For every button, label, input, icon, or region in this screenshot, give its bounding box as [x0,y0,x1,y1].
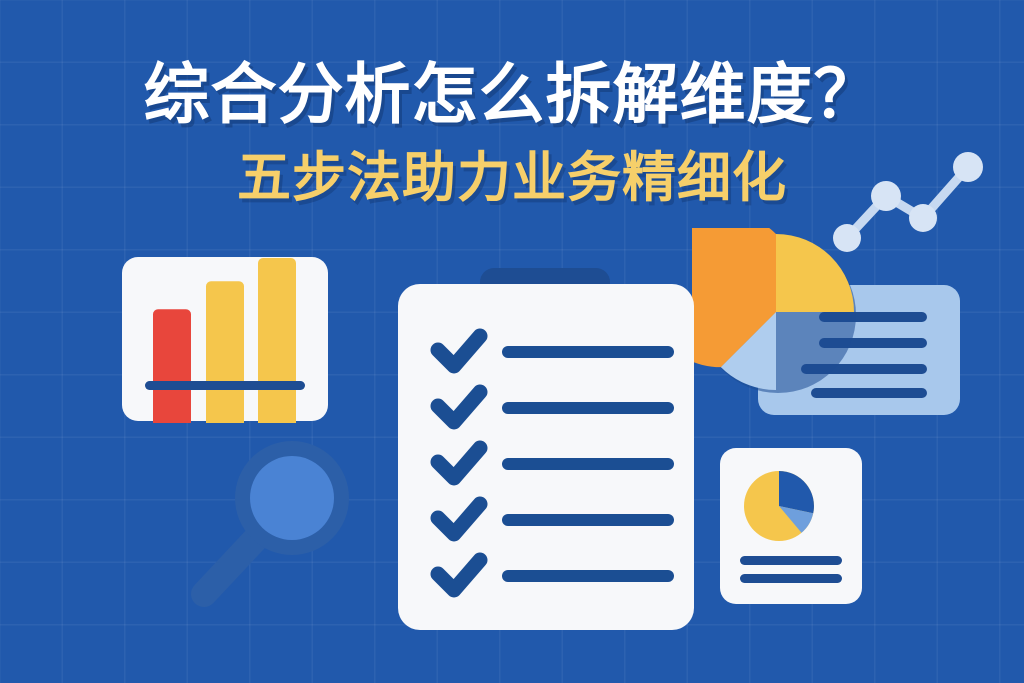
line-point [953,152,983,182]
bar-1 [153,309,191,423]
report-card-line [740,556,842,565]
line-point [871,181,901,211]
bar-2 [206,281,244,423]
magnifying-glass [182,432,374,614]
checklist-line [502,570,674,582]
large-pie-chart [692,228,864,400]
checklist-clipboard [392,266,702,636]
bar-baseline [145,381,305,390]
line-point [909,204,937,232]
report-card-line [740,574,842,583]
page-title: 综合分析怎么拆解维度？ [0,60,1024,129]
checklist-line [502,458,674,470]
checklist-line [502,346,674,358]
poster-canvas: 综合分析怎么拆解维度？ 五步法助力业务精细化 [0,0,1024,683]
checklist-line [502,402,674,414]
report-pie-card [718,446,864,606]
pie-slice-yellow [776,234,854,312]
magnifier-lens [250,456,334,540]
checklist-line [502,514,674,526]
bar-chart-card [120,255,330,423]
bar-3 [258,258,296,423]
